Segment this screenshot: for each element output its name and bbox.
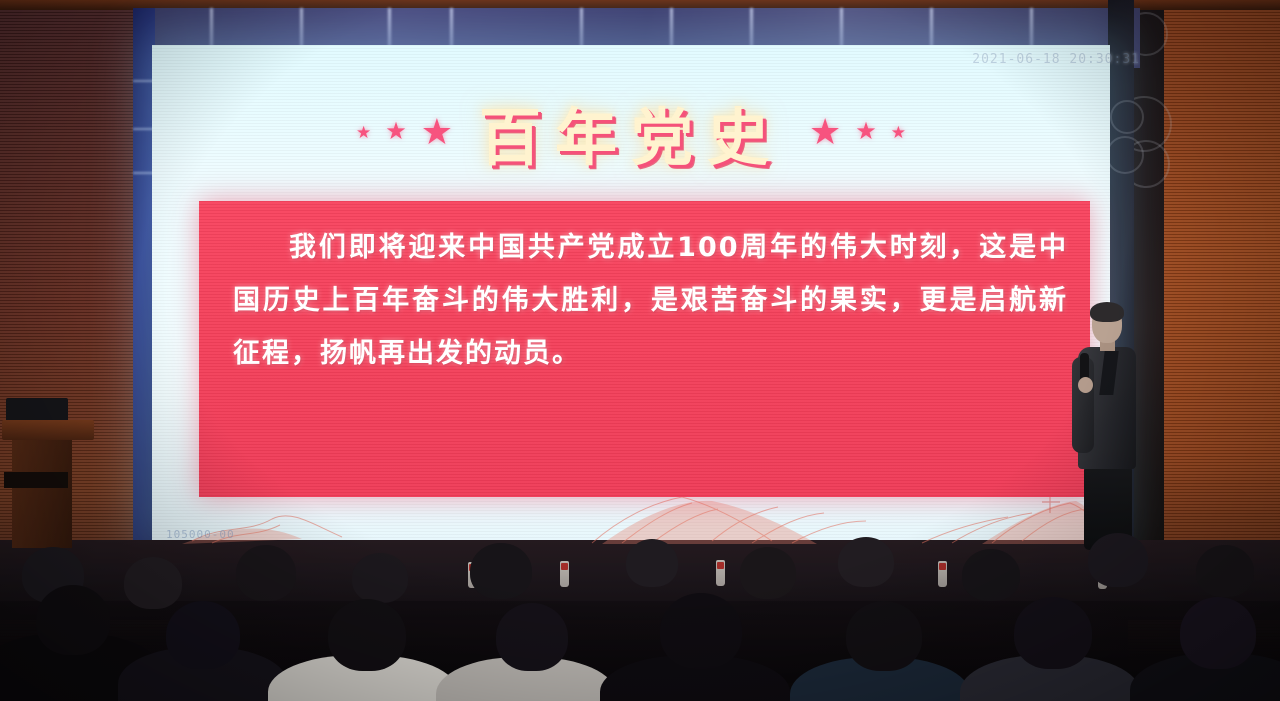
slide-title-row: ★ ★ ★ 百年党史 ★ ★ ★: [152, 92, 1110, 172]
star-icon: ★: [855, 120, 877, 144]
audience-head: [1014, 597, 1092, 669]
screenshot-stage: 105000-00 2021-06-18 20:30:31 ★ ★ ★ 百年党史…: [0, 0, 1280, 701]
water-bottle: [716, 560, 725, 586]
audience-head: [166, 601, 240, 669]
speaker-hair: [1090, 302, 1124, 322]
audience-head: [328, 599, 406, 671]
audience-head: [1180, 597, 1256, 669]
audience-head: [1088, 533, 1148, 587]
audience-head: [660, 593, 742, 669]
audience-head: [236, 545, 296, 601]
star-icon: ★: [421, 114, 453, 150]
star-icon: ★: [356, 124, 371, 141]
star-icon: ★: [809, 114, 841, 150]
slide-red-text-panel: 我们即将迎来中国共产党成立100周年的伟大时刻，这是中国历史上百年奋斗的伟大胜利…: [199, 201, 1090, 497]
stars-left-group: ★ ★ ★: [356, 114, 453, 150]
camera-timestamp-overlay: 2021-06-18 20:30:31: [972, 52, 1140, 67]
audience-head: [838, 537, 894, 587]
audience-head: [352, 553, 408, 603]
star-icon: ★: [385, 120, 407, 144]
slide-title: 百年党史: [479, 87, 783, 177]
audience-head: [740, 547, 796, 599]
audience-head: [124, 557, 182, 609]
podium-top: [2, 420, 94, 440]
speaker-hand: [1078, 377, 1093, 393]
stars-right-group: ★ ★ ★: [809, 114, 906, 150]
star-icon: ★: [891, 124, 906, 141]
slide-body-text: 我们即将迎来中国共产党成立100周年的伟大时刻，这是中国历史上百年奋斗的伟大胜利…: [233, 221, 1068, 380]
audience-head: [470, 543, 532, 599]
audience-head: [1196, 545, 1254, 597]
audience-head: [962, 549, 1020, 601]
audience-head: [626, 539, 678, 587]
water-bottle: [560, 561, 569, 587]
audience-head: [36, 585, 110, 655]
water-bottle: [938, 561, 947, 587]
audience-head: [846, 601, 922, 671]
podium-shelf: [4, 472, 68, 488]
audience-area: [0, 505, 1280, 701]
audience-head: [496, 603, 568, 671]
